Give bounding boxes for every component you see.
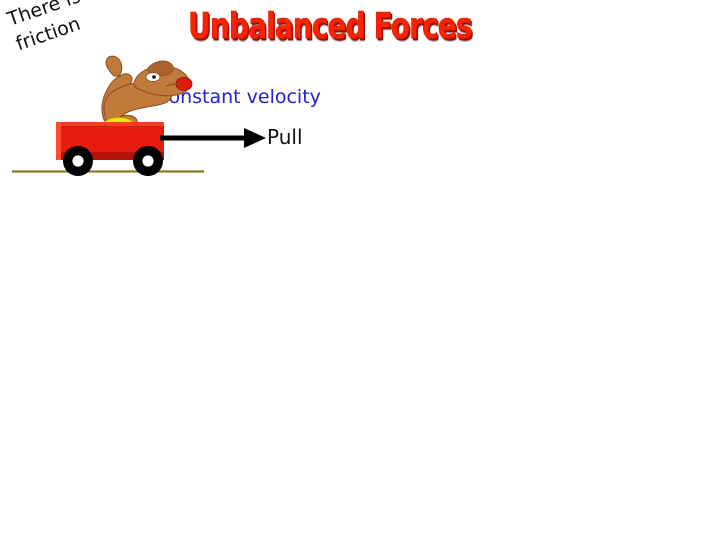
pull-force-arrow-icon [160,118,270,158]
slide-canvas: Unbalanced Forces There is friction cons… [0,0,720,540]
page-title-text: Unbalanced Forces [188,7,453,47]
dog-nose-icon [176,78,192,91]
dog-in-wagon-illustration [8,44,288,184]
